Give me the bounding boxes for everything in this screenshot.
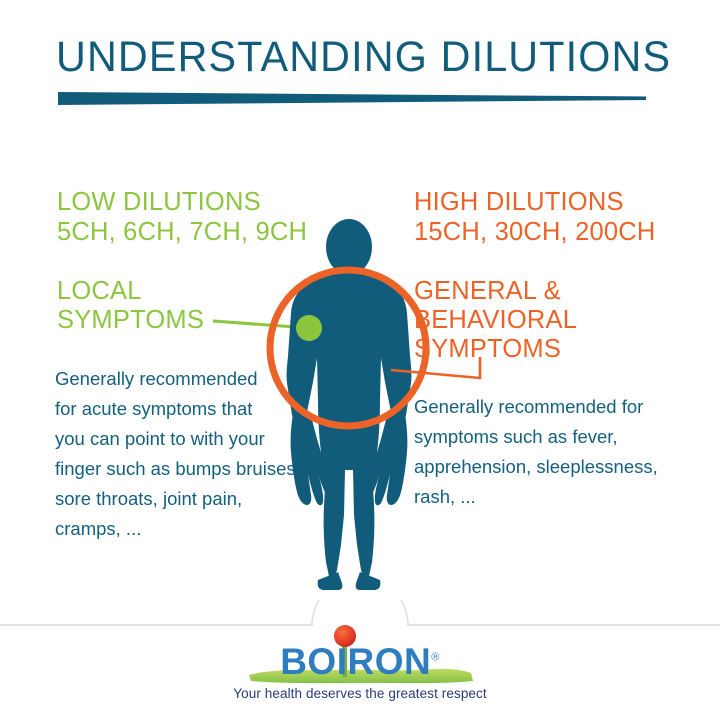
low-dilutions-description: Generally recommended for acute symptoms… [55, 364, 335, 544]
local-symptoms-connector-line [213, 321, 309, 328]
registered-trademark-icon: ® [431, 652, 440, 664]
high-dilutions-heading: HIGH DILUTIONS 15CH, 30CH, 200CH [414, 187, 656, 247]
title-underline-rule [58, 92, 646, 108]
local-symptoms-subheading: LOCAL SYMPTOMS [57, 277, 204, 335]
low-dilutions-heading: LOW DILUTIONS 5CH, 6CH, 7CH, 9CH [57, 187, 307, 247]
boiron-wordmark-text: BOIRON [280, 641, 431, 682]
brand-tagline: Your health deserves the greatest respec… [0, 686, 720, 701]
infographic-root: UNDERSTANDING DILUTIONS LOW DILUTIONS 5C… [0, 0, 720, 720]
high-dilutions-description: Generally recommended for symptoms such … [414, 392, 684, 512]
footer: BOIRON® Your health deserves the greates… [0, 600, 720, 720]
local-symptom-point [296, 315, 322, 341]
boiron-logo: BOIRON® [235, 625, 485, 687]
page-title: UNDERSTANDING DILUTIONS [56, 33, 671, 82]
general-behavioral-symptoms-subheading: GENERAL & BEHAVIORAL SYMPTOMS [414, 277, 577, 364]
boiron-wordmark: BOIRON® [235, 641, 485, 683]
